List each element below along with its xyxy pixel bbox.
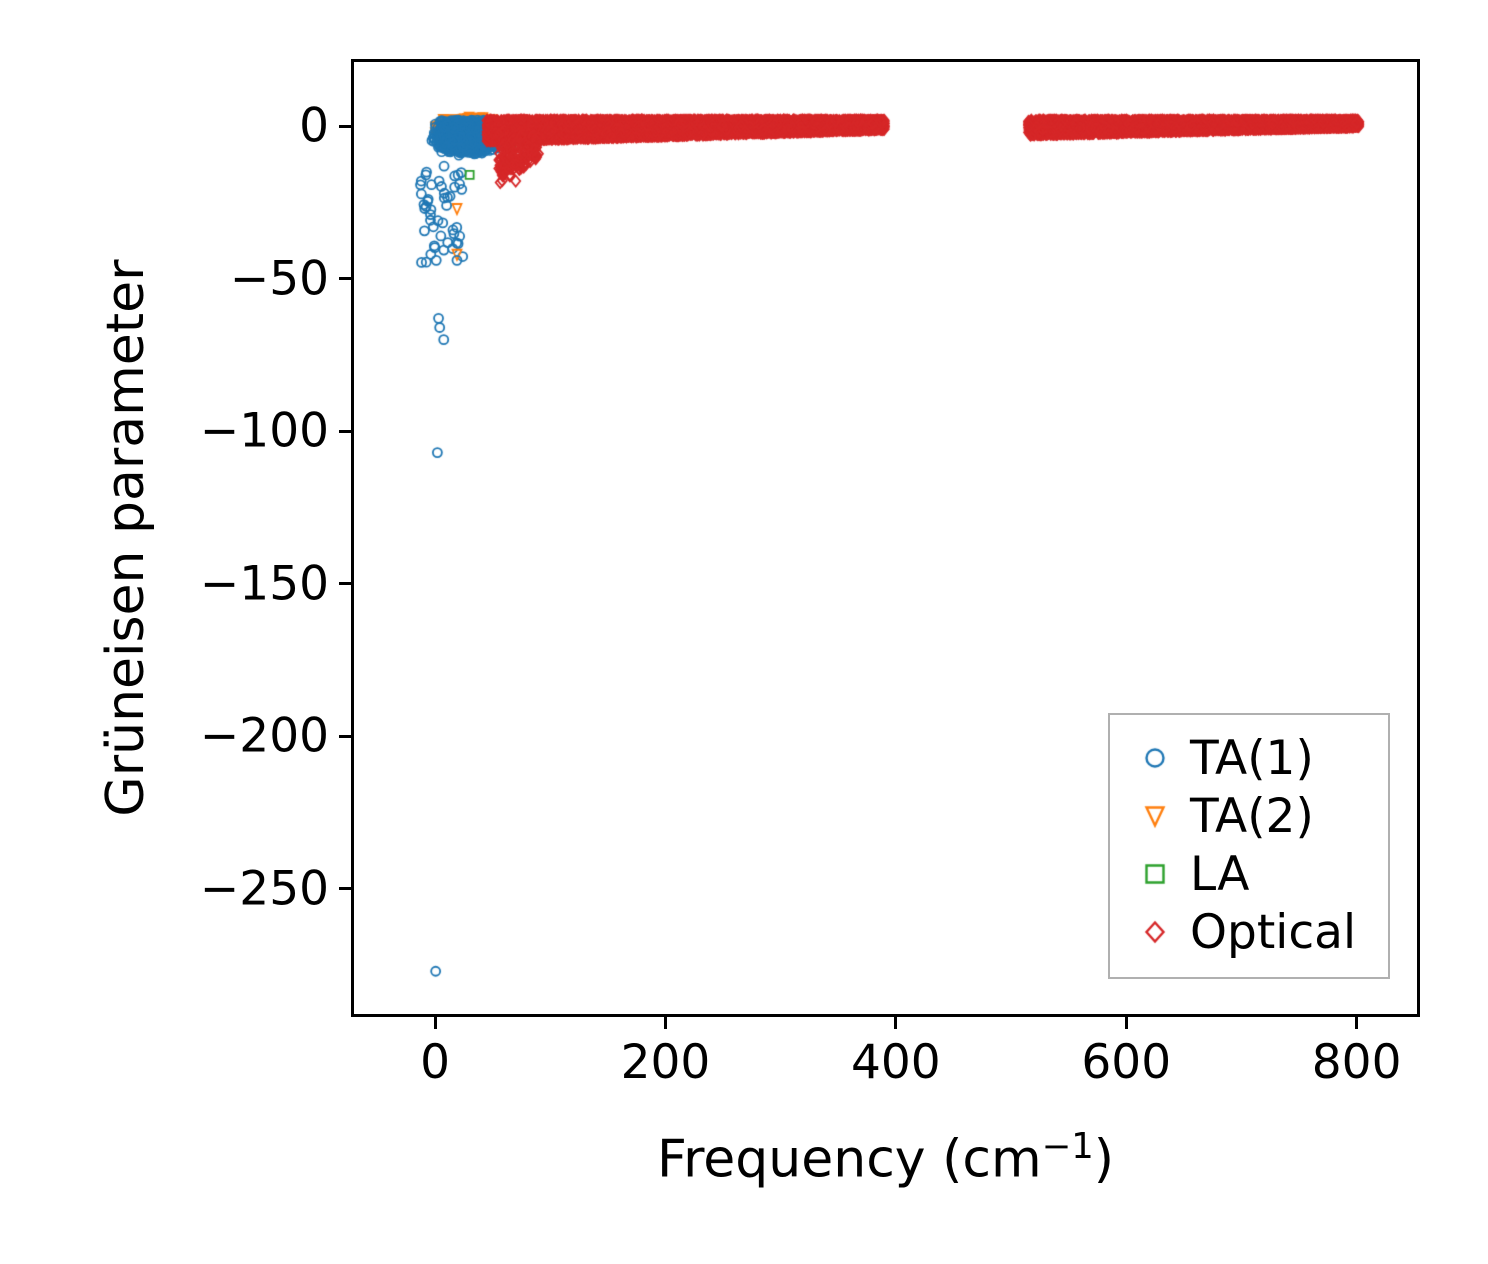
legend-box: TA(1)TA(2)LAOptical bbox=[1108, 713, 1390, 979]
y-tick-0 bbox=[339, 125, 351, 128]
y-tick-label-−100: −100 bbox=[200, 408, 329, 455]
x-axis-label: Frequency (cm−1) bbox=[351, 1128, 1420, 1189]
legend-item-optical[interactable]: Optical bbox=[1128, 903, 1370, 961]
x-tick-label-200: 200 bbox=[621, 1039, 711, 1086]
legend-label: LA bbox=[1182, 851, 1249, 898]
x-tick-800 bbox=[1355, 1017, 1358, 1029]
y-tick-label-0: 0 bbox=[299, 103, 329, 150]
legend-label: Optical bbox=[1182, 909, 1356, 956]
y-tick-label-−50: −50 bbox=[230, 255, 329, 302]
x-tick-0 bbox=[434, 1017, 437, 1029]
y-tick-label-−250: −250 bbox=[200, 865, 329, 912]
figure-canvas: 0200400600800 0−50−100−150−200−250 Frequ… bbox=[0, 0, 1488, 1264]
x-tick-label-800: 800 bbox=[1312, 1039, 1402, 1086]
x-axis-label-base: Frequency (cm bbox=[657, 1129, 1042, 1189]
circle-icon bbox=[1128, 738, 1182, 778]
y-tick-−250 bbox=[339, 887, 351, 890]
y-tick-−200 bbox=[339, 735, 351, 738]
x-tick-label-600: 600 bbox=[1081, 1039, 1171, 1086]
y-axis-label: Grüneisen parameter bbox=[98, 59, 155, 1017]
x-tick-200 bbox=[664, 1017, 667, 1029]
y-tick-−100 bbox=[339, 430, 351, 433]
legend-label: TA(2) bbox=[1182, 793, 1314, 840]
y-tick-label-−200: −200 bbox=[200, 713, 329, 760]
x-tick-600 bbox=[1125, 1017, 1128, 1029]
triangle-down-icon bbox=[1128, 796, 1182, 836]
y-tick-−150 bbox=[339, 582, 351, 585]
y-tick-label-−150: −150 bbox=[200, 560, 329, 607]
x-tick-400 bbox=[894, 1017, 897, 1029]
legend-item-ta1[interactable]: TA(1) bbox=[1128, 729, 1370, 787]
x-tick-label-0: 0 bbox=[420, 1039, 450, 1086]
legend-item-la[interactable]: LA bbox=[1128, 845, 1370, 903]
legend-label: TA(1) bbox=[1182, 735, 1314, 782]
x-axis-label-tail: ) bbox=[1094, 1129, 1114, 1189]
y-tick-−50 bbox=[339, 277, 351, 280]
square-icon bbox=[1128, 854, 1182, 894]
diamond-icon bbox=[1128, 912, 1182, 952]
x-tick-label-400: 400 bbox=[851, 1039, 941, 1086]
legend-item-ta2[interactable]: TA(2) bbox=[1128, 787, 1370, 845]
x-axis-label-exponent: −1 bbox=[1042, 1126, 1094, 1167]
